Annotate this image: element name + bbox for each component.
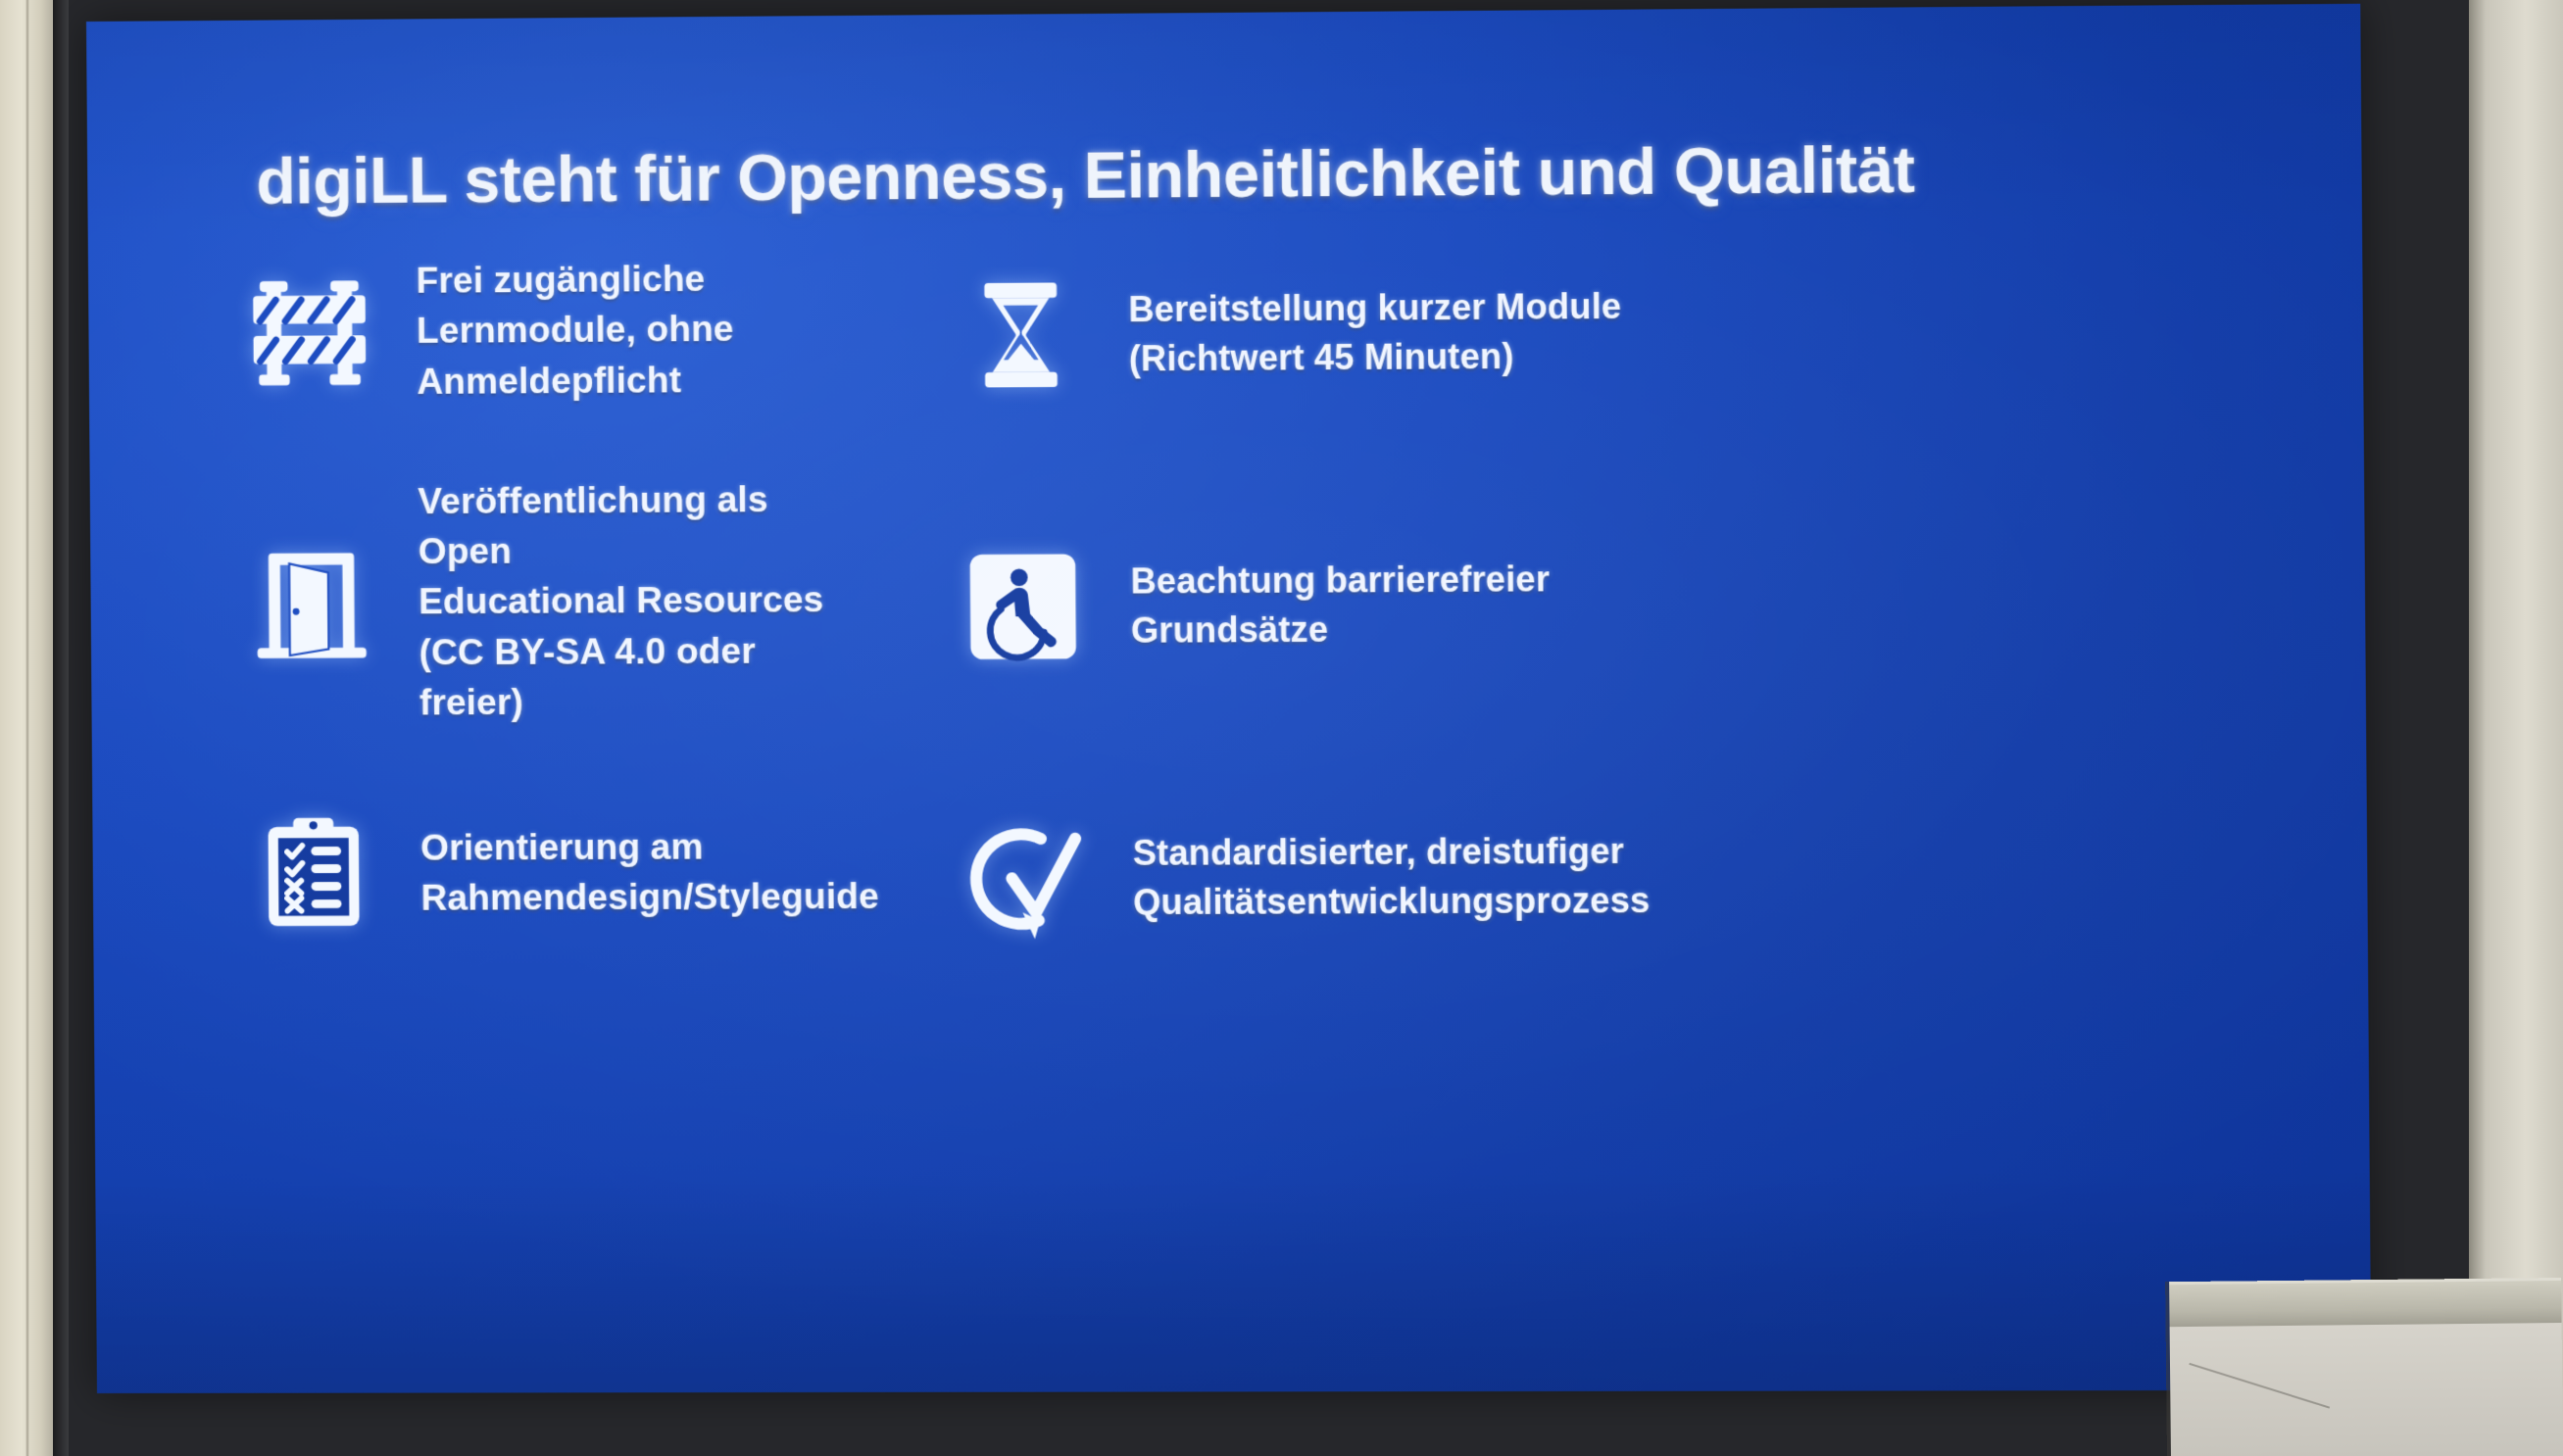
feature-line: (CC BY-SA 4.0 oder freier)	[419, 630, 756, 722]
clipboard-checklist-icon	[239, 800, 387, 947]
presentation-slide: digiLL steht für Openness, Einheitlichke…	[86, 4, 2371, 1393]
feature-line: Veröffentlichung als Open	[418, 479, 768, 571]
feature-grid: Frei zugängliche Lernmodule, ohne Anmeld…	[235, 230, 2232, 961]
feature-line: Anmeldepflicht	[417, 360, 681, 402]
feature-line: Lernmodule, ohne	[417, 309, 734, 351]
flipchart-rail	[2169, 1278, 2561, 1330]
feature-line: (Richtwert 45 Minuten)	[1129, 336, 1514, 379]
projection-photo-scene: digiLL steht für Openness, Einheitlichke…	[0, 0, 2563, 1456]
wall-shadow-gap	[53, 0, 69, 1456]
road-barrier-icon	[235, 258, 383, 406]
feature-line: Beachtung barrierefreier	[1130, 558, 1550, 601]
feature-line: Orientierung am	[420, 826, 704, 867]
room-wall-right	[2469, 0, 2563, 1456]
hourglass-icon	[946, 261, 1095, 410]
feature-text: Frei zugängliche Lernmodule, ohne Anmeld…	[416, 254, 734, 407]
feature-item-accessibility: Beachtung barrierefreier Grundsätze	[948, 504, 2230, 688]
flipchart-foreground	[2169, 1278, 2563, 1456]
feature-text: Veröffentlichung als Open Educational Re…	[418, 474, 868, 727]
feature-item-open-access: Frei zugängliche Lernmodule, ohne Anmeld…	[235, 240, 866, 420]
feature-item-quality-process: Standardisierter, dreistufiger Qualitäts…	[951, 777, 2233, 959]
room-wall-left	[0, 0, 53, 1456]
feature-line: Qualitätsentwicklungsprozess	[1133, 880, 1651, 922]
wall-seam	[25, 0, 29, 1456]
feature-text: Bereitstellung kurzer Module (Richtwert …	[1128, 282, 1622, 383]
flipchart-paper	[2170, 1323, 2563, 1456]
feature-item-oer-license: Veröffentlichung als Open Educational Re…	[237, 511, 868, 692]
feature-text: Standardisierter, dreistufiger Qualitäts…	[1133, 827, 1651, 927]
flipchart-crease	[2189, 1363, 2330, 1409]
slide-title: digiLL steht für Openness, Einheitlichke…	[256, 131, 2258, 217]
wheelchair-accessibility-icon	[949, 532, 1098, 680]
feature-line: Rahmendesign/Styleguide	[420, 876, 879, 918]
feature-line: Bereitstellung kurzer Module	[1128, 286, 1621, 329]
feature-line: Frei zugängliche	[416, 259, 705, 301]
feature-line: Educational Resources	[419, 580, 824, 622]
open-door-icon	[237, 528, 385, 676]
feature-line: Standardisierter, dreistufiger	[1133, 831, 1624, 873]
check-cycle-icon	[951, 804, 1100, 952]
feature-text: Orientierung am Rahmendesign/Styleguide	[420, 821, 879, 923]
feature-text: Beachtung barrierefreier Grundsätze	[1130, 555, 1550, 655]
feature-item-styleguide: Orientierung am Rahmendesign/Styleguide	[239, 783, 870, 962]
feature-item-short-modules: Bereitstellung kurzer Module (Richtwert …	[946, 230, 2228, 416]
feature-line: Grundsätze	[1131, 609, 1328, 651]
